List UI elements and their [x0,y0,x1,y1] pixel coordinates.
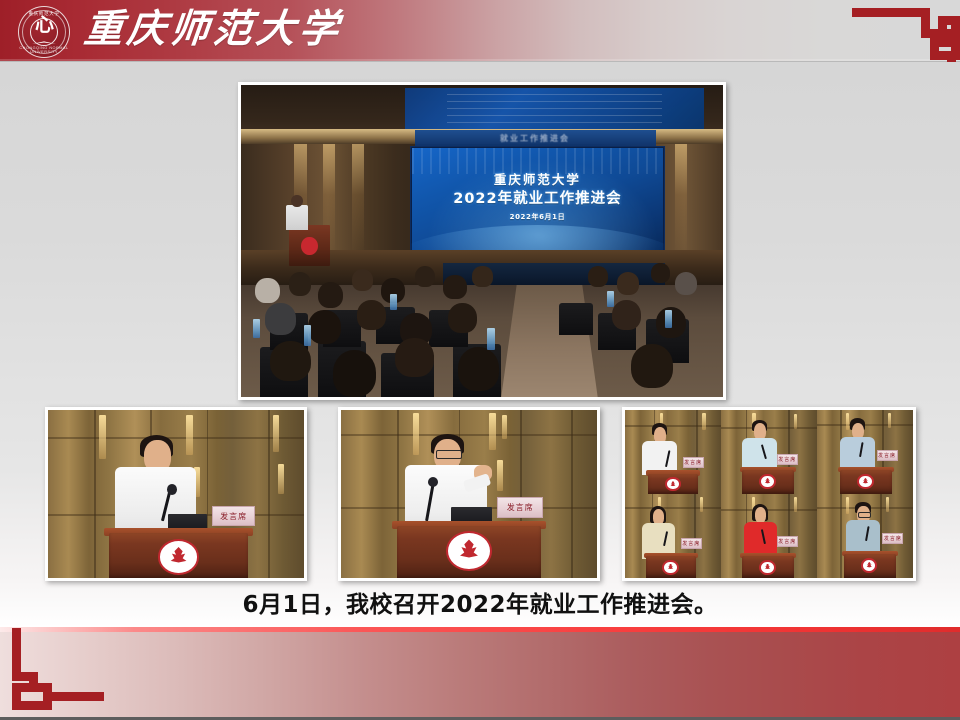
speaker-photo-left: 发言席 [45,407,307,581]
speaker-cell-6: 发言席 [817,494,913,578]
wall-light-strip [352,144,365,256]
speaker-photo-center: 发言席 [338,407,600,581]
podium-university-crest-icon [446,531,492,571]
emblem-arc-bottom-text: CHONGQING NORMAL UNIVERSITY [19,46,69,54]
hall-aisle [501,285,597,397]
speaker-glasses-icon [436,450,462,459]
presentation-slide: 重庆师范大学 心 CHONGQING NORMAL UNIVERSITY 重庆师… [0,0,960,720]
university-emblem-icon: 重庆师范大学 心 CHONGQING NORMAL UNIVERSITY [18,6,70,58]
emblem-flame-glyph: 心 [19,16,69,35]
main-projection-screen: 重庆师范大学 2022年就业工作推进会 2022年6月1日 [410,146,665,252]
wall-light-strip [675,144,688,256]
hall-podium [289,225,330,266]
screen-title-line1: 重庆师范大学 [411,173,664,187]
podium-scene-left: 发言席 [48,410,304,578]
nameplate-left: 发言席 [212,506,256,526]
podium-scene-center: 发言席 [341,410,597,578]
speaker-cell-4: 发言席 [625,494,721,578]
upper-led-screen-text: 就业工作推进会 [415,133,656,144]
speaker-cell-1: 发言席 [625,410,721,494]
speaker-cell-5: 发言席 [721,494,817,578]
screen-title-line2: 2022年就业工作推进会 [411,191,664,207]
header-banner: 重庆师范大学 心 CHONGQING NORMAL UNIVERSITY 重庆师… [0,0,960,62]
nameplate-center: 发言席 [497,497,543,517]
hall-scene: 就业工作推进会 重庆师范大学 2022年就业工作推进会 2022年6月1日 [241,85,723,397]
hall-speaker-body [286,205,307,230]
slide-caption: 6月1日，我校召开2022年就业工作推进会。 [0,588,960,622]
conference-hall-photo: 就业工作推进会 重庆师范大学 2022年就业工作推进会 2022年6月1日 [238,82,726,400]
hall-speaker-head [291,195,303,207]
screen-date-line: 2022年6月1日 [411,213,664,221]
corner-ornament-bottom-left-icon [12,628,104,715]
university-name-title: 重庆师范大学 [82,7,345,53]
speaker-cell-3: 发言席 [817,410,913,494]
speaker-cell-2: 发言席 [721,410,817,494]
speaker-grid-photo: 发言席 发言席 [622,407,916,581]
footer-banner [0,632,960,718]
podium-university-crest-icon [158,539,199,574]
